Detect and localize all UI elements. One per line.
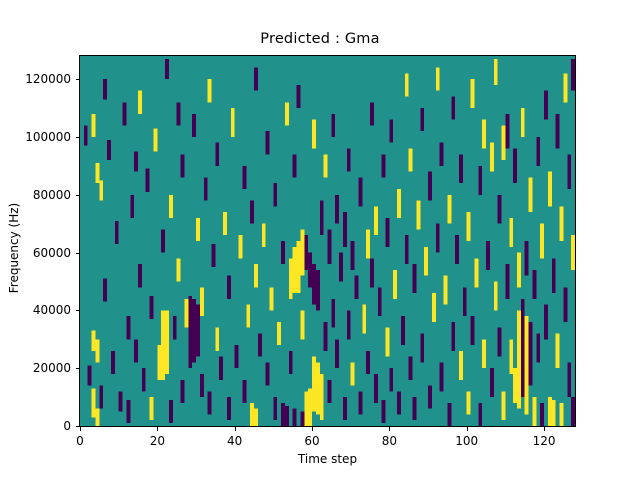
x-tick-mark [544, 427, 545, 431]
matplotlib-figure: Predicted : Gma 020000400006000080000100… [0, 0, 640, 480]
x-axis-label: Time step [79, 452, 576, 466]
heatmap-image [80, 56, 575, 426]
x-tick-label: 100 [455, 434, 478, 448]
x-tick-mark [157, 427, 158, 431]
page-title: Predicted : Gma [0, 31, 640, 47]
y-tick-mark [76, 368, 80, 369]
x-tick-mark [467, 427, 468, 431]
y-tick-label: 120000 [25, 72, 71, 86]
y-axis-label: Frequency (Hz) [7, 148, 21, 348]
x-tick-mark [389, 427, 390, 431]
x-tick-label: 20 [150, 434, 165, 448]
y-tick-label: 60000 [33, 246, 71, 260]
x-tick-label: 40 [227, 434, 242, 448]
y-tick-label: 100000 [25, 130, 71, 144]
x-tick-mark [312, 427, 313, 431]
y-tick-mark [76, 195, 80, 196]
y-tick-label: 0 [63, 419, 71, 433]
x-tick-label: 120 [533, 434, 556, 448]
y-tick-mark [76, 426, 80, 427]
y-tick-label: 80000 [33, 188, 71, 202]
y-tick-mark [76, 253, 80, 254]
x-tick-label: 0 [76, 434, 84, 448]
heatmap-plot-area [79, 55, 576, 427]
x-tick-label: 80 [382, 434, 397, 448]
x-tick-mark [80, 427, 81, 431]
y-tick-label: 20000 [33, 361, 71, 375]
x-tick-mark [235, 427, 236, 431]
y-tick-mark [76, 310, 80, 311]
y-tick-mark [76, 137, 80, 138]
x-tick-label: 60 [304, 434, 319, 448]
y-tick-mark [76, 79, 80, 80]
y-tick-label: 40000 [33, 303, 71, 317]
